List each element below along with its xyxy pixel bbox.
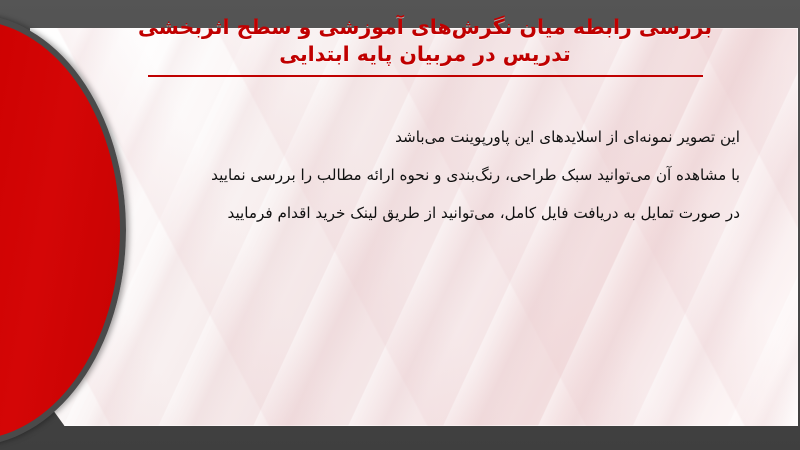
body-text-line-2: با مشاهده آن می‌توانید سبک طراحی، رنگ‌بن… <box>60 156 740 194</box>
slide-title: بررسی رابطه میان نگرش‌های آموزشی و سطح ا… <box>100 14 750 77</box>
slide-title-line-1: بررسی رابطه میان نگرش‌های آموزشی و سطح ا… <box>100 14 750 41</box>
slide-title-line-2: تدریس در مربیان پایه ابتدایی <box>100 41 750 68</box>
body-text-line-1: این تصویر نمونه‌ای از اسلایدهای این پاور… <box>60 118 740 156</box>
body-text-line-3: در صورت تمایل به دریافت فایل کامل، می‌تو… <box>60 194 740 232</box>
slide-body-text: این تصویر نمونه‌ای از اسلایدهای این پاور… <box>60 118 740 232</box>
title-underline-rule <box>148 75 703 77</box>
presentation-slide: بررسی رابطه میان نگرش‌های آموزشی و سطح ا… <box>0 0 800 450</box>
